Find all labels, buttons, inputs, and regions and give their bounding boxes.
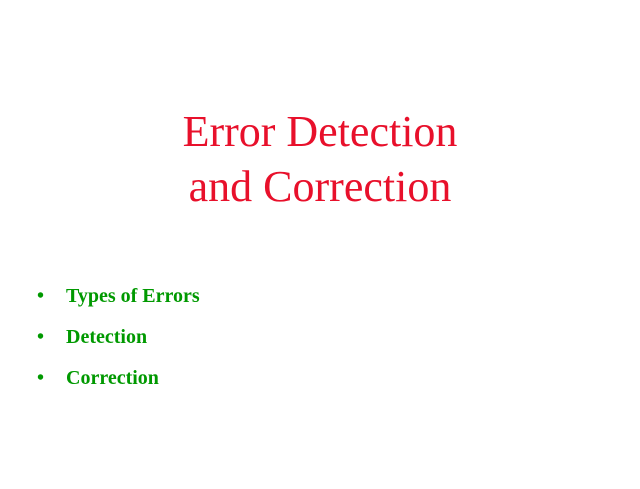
- page-title-line-1: Error Detection: [0, 104, 640, 159]
- list-item: • Correction: [28, 365, 588, 406]
- list-item: • Detection: [28, 324, 588, 365]
- bullet-dot-icon: •: [28, 283, 66, 309]
- page-title: Error Detection and Correction: [0, 104, 640, 214]
- list-item: • Types of Errors: [28, 283, 588, 324]
- page-title-line-2: and Correction: [0, 159, 640, 214]
- bullet-item-label: Correction: [66, 365, 588, 391]
- bullet-dot-icon: •: [28, 324, 66, 350]
- bullet-list: • Types of Errors • Detection • Correcti…: [28, 283, 588, 406]
- bullet-dot-icon: •: [28, 365, 66, 391]
- bullet-item-label: Types of Errors: [66, 283, 588, 309]
- bullet-item-label: Detection: [66, 324, 588, 350]
- slide-canvas: Error Detection and Correction • Types o…: [0, 0, 640, 489]
